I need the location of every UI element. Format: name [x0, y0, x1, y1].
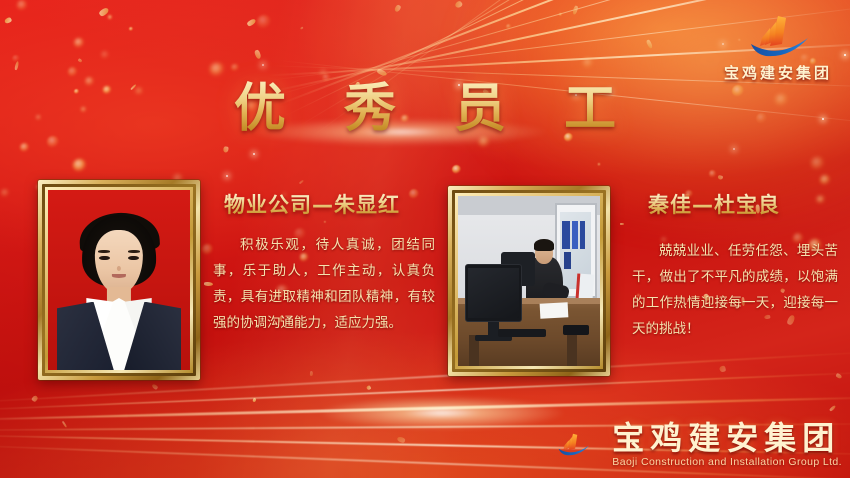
employee-honor-poster: 优 秀 员 工 宝鸡建安集团: [0, 0, 850, 478]
employee-name-1: 物业公司—朱显红: [224, 189, 400, 219]
employee-description-2: 兢兢业业、任劳任怨、埋头苦干，做出了不平凡的成绩，以饱满的工作热情迎接每一天，迎…: [632, 238, 838, 342]
brand-name-en-bottom: Baoji Construction and Installation Grou…: [612, 456, 842, 468]
sail-boat-logo-icon: [720, 14, 836, 60]
sail-boat-logo-icon-bottom: [542, 418, 604, 472]
brand-name-cn-top: 宝鸡建安集团: [720, 62, 836, 83]
employee-description-1: 积极乐观，待人真诚，团结同事，乐于助人，工作主动，认真负责，具有进取精神和团队精…: [213, 232, 435, 336]
employee-name-2: 秦佳—杜宝良: [648, 189, 780, 219]
employee-photo-2: [458, 196, 600, 366]
brand-name-cn-bottom: 宝鸡建安集团: [612, 422, 842, 456]
brand-logo-bottom[interactable]: 宝鸡建安集团 Baoji Construction and Installati…: [542, 418, 842, 472]
bottom-lens-flare: [317, 396, 567, 430]
employee-photo-frame-2[interactable]: [448, 186, 610, 376]
brand-logo-top[interactable]: 宝鸡建安集团: [720, 14, 836, 83]
employee-photo-frame-1[interactable]: [38, 180, 200, 380]
employee-photo-1: [48, 190, 190, 370]
